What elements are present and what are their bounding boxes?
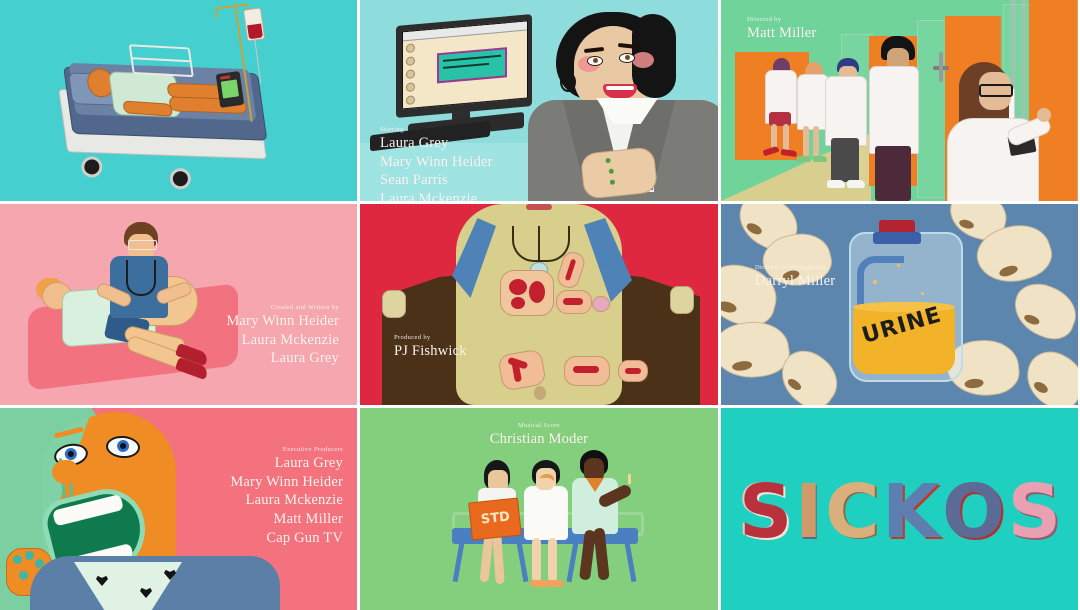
credit-name: Laura Grey <box>380 134 493 153</box>
bed-wheel <box>80 155 104 179</box>
hand-gripping-jacket <box>382 290 406 318</box>
lips <box>526 204 552 210</box>
title-sequence-grid: Patient lying in a hospital bed with an … <box>0 0 1080 608</box>
credit-directed-by: Directed by Matt Miller <box>747 16 816 43</box>
bed-wheel <box>169 167 193 191</box>
ring <box>609 169 614 174</box>
nose <box>52 460 78 484</box>
logo-letter-c: C <box>825 475 879 549</box>
credit-name: Laura Mckenzie <box>226 331 339 350</box>
trousers <box>875 146 911 201</box>
sandal <box>546 580 564 587</box>
woman-eye-left <box>587 56 603 66</box>
leg <box>803 126 809 158</box>
jug-neck-ring <box>873 232 921 244</box>
book-title: STD <box>480 509 510 527</box>
std-book: STD <box>468 497 522 540</box>
bubble <box>873 280 877 284</box>
panel-torso-sores: Man opening his shirt to reveal a torso … <box>360 204 718 405</box>
eyeglasses <box>979 84 1013 97</box>
trousers <box>831 138 859 182</box>
credit-starring: Starring Laura Grey Mary Winn Heider Sea… <box>380 126 493 201</box>
ring <box>605 158 610 163</box>
hoop-earring <box>560 72 576 92</box>
leg <box>548 538 557 582</box>
credit-role: Created and Written by <box>226 304 339 312</box>
credit-name: PJ Fishwick <box>394 342 467 361</box>
credit-created-written-by: Created and Written by Mary Winn Heider … <box>226 304 339 368</box>
panel-urine-jug: Plastic gallon jug labelled URINE surrou… <box>721 204 1078 405</box>
credit-name: Laura Grey <box>230 454 343 473</box>
cigarette <box>628 474 631 484</box>
panel-waiting-bench: Three women sitting on a clinic bench, o… <box>360 408 718 610</box>
credit-musical-score: Musical Score Christian Moder <box>360 422 718 449</box>
credit-name: Laura Mckenzie <box>380 190 493 201</box>
credit-role: Director of Photography <box>755 264 835 272</box>
credit-name: Mary Winn Heider <box>230 473 343 492</box>
skin-sore <box>556 290 592 314</box>
bench-leg <box>567 542 579 582</box>
leg <box>532 538 541 582</box>
corridor-pillar <box>1077 0 1078 201</box>
screen-dialog-box <box>437 47 507 83</box>
bench-leg <box>625 542 637 582</box>
hospital-gown <box>524 486 568 540</box>
woman-blush-right <box>632 52 654 68</box>
panel-exam-table: Doctor in blue scrubs examining a patien… <box>0 204 357 405</box>
stethoscope <box>126 260 156 296</box>
bubble <box>921 292 924 295</box>
skin-sore <box>564 356 610 386</box>
skin-sore <box>592 296 610 312</box>
bubble <box>897 264 900 267</box>
window-titlebar <box>403 21 527 41</box>
credit-role: Directed by <box>747 16 816 24</box>
credit-director-of-photography: Director of Photography Darryl Miller <box>755 264 835 291</box>
woman-mouth <box>603 84 637 98</box>
credit-name: Mary Winn Heider <box>226 312 339 331</box>
hand <box>1037 108 1051 122</box>
credit-name: Laura Grey <box>226 349 339 368</box>
credit-name: Cap Gun TV <box>230 529 343 548</box>
panel-screaming-face: Close-up of a screaming, crying face in … <box>0 408 357 610</box>
green-shoe <box>797 156 811 162</box>
credit-role: Musical Score <box>360 422 718 430</box>
screen-sidebar-icons <box>406 43 415 104</box>
navel <box>534 386 546 400</box>
door-handle <box>933 66 949 70</box>
clasped-hands <box>580 146 658 199</box>
credit-name: Laura Mckenzie <box>230 491 343 510</box>
credit-executive-producers: Executive Producers Laura Grey Mary Winn… <box>230 446 343 547</box>
hospital-bed-illustration <box>42 11 312 201</box>
nose-illustration <box>1016 342 1078 405</box>
bench-leg <box>517 542 529 582</box>
credit-name: Matt Miller <box>230 510 343 529</box>
credit-name: Christian Moder <box>360 430 718 449</box>
green-shoe <box>813 156 827 162</box>
upper-teeth <box>52 494 124 526</box>
credit-produced-by: Produced by PJ Fishwick <box>394 334 467 361</box>
sneaker <box>847 180 865 188</box>
ring <box>610 179 615 184</box>
credit-name: Darryl Miller <box>755 272 835 291</box>
computer-monitor <box>396 14 532 118</box>
skin-sore <box>618 360 648 382</box>
skin-rash <box>500 270 554 316</box>
iv-blood-bag <box>243 7 265 41</box>
panel-hospital-corridor: Doctors in white coats along a hospital … <box>721 0 1078 201</box>
logo-letter-s: S <box>739 475 792 549</box>
credit-name: Matt Miller <box>747 24 816 43</box>
credit-role: Starring <box>380 126 493 134</box>
logo-letter-s2: S <box>1008 475 1061 549</box>
bench-leg <box>453 542 465 582</box>
credit-name: Mary Winn Heider <box>380 153 493 172</box>
sneaker <box>827 180 845 188</box>
panel-woman-computer: Woman in a grey blazer seated at a desk … <box>360 0 718 201</box>
hand-gripping-jacket <box>670 286 694 314</box>
woman-eye-right <box>619 53 635 63</box>
logo-letter-o: O <box>942 475 1005 549</box>
lab-coat <box>869 66 919 154</box>
leg <box>783 124 789 152</box>
credit-role: Produced by <box>394 334 467 342</box>
sickos-title-logo: S I C K O S <box>739 466 1061 558</box>
monitor-screen <box>402 20 528 109</box>
leg <box>813 126 819 158</box>
nose-illustration <box>1006 276 1078 346</box>
logo-letter-i: I <box>795 475 823 549</box>
logo-letter-k: K <box>882 475 939 549</box>
lab-coat <box>825 76 867 146</box>
hand <box>536 478 554 490</box>
credit-name: Sean Parris <box>380 171 493 190</box>
eyeglasses <box>128 240 157 250</box>
vitals-monitor <box>216 71 244 108</box>
bed-side-rail <box>129 44 194 77</box>
credit-role: Executive Producers <box>230 446 343 454</box>
panel-hospital-bed: Patient lying in a hospital bed with an … <box>0 0 357 201</box>
panel-title-logo: Series title logo spelled with illustrat… <box>721 408 1078 610</box>
